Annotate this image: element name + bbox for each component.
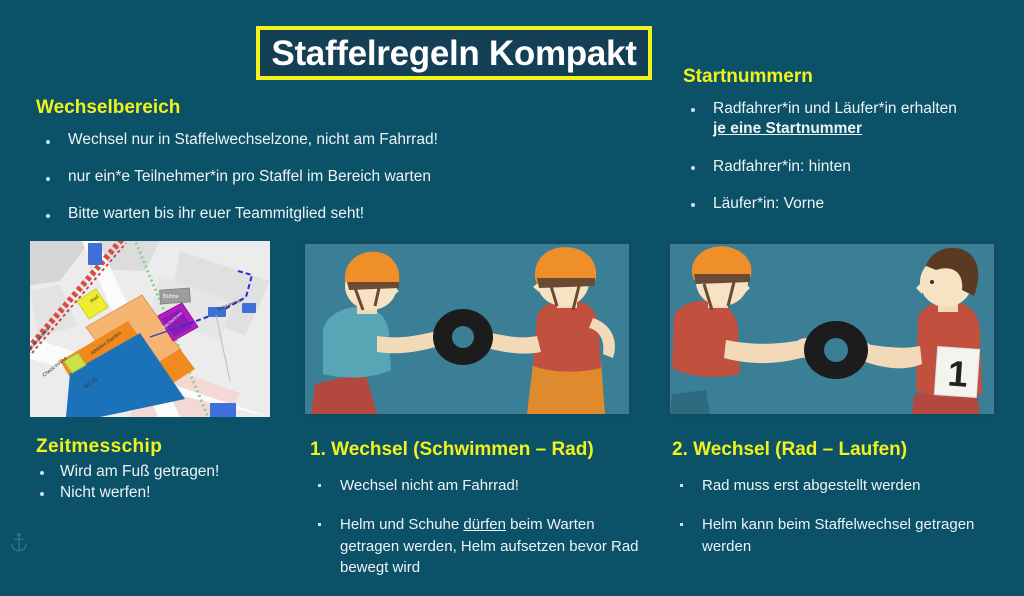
anchor-icon: [8, 530, 30, 554]
text-pre: Wechsel nicht am Fahrrad!: [340, 477, 519, 494]
slide-root: Staffelregeln Kompakt Wechselbereich Wec…: [0, 0, 1024, 584]
swim-to-bike-svg: [305, 244, 629, 414]
timing-chip: [804, 321, 868, 379]
text-emphasis: dürfen: [463, 516, 506, 533]
list-item: Bitte warten bis ihr euer Teammitglied s…: [38, 205, 508, 223]
list-startnummern: Radfahrer*in und Läufer*in erhalten je e…: [683, 99, 973, 232]
list-wechsel-2: Rad muss erst abgestellt werden Helm kan…: [672, 475, 1002, 574]
list-zeitmesschip: Wird am Fuß getragen! Nicht werfen!: [30, 463, 290, 505]
heading-wechsel-2: 2. Wechsel (Rad – Laufen): [672, 440, 907, 461]
slide-title-box: Staffelregeln Kompakt: [256, 26, 652, 80]
venue-map-svg: Rad Athleten Garden Check-In/Out W2 VD B…: [30, 241, 270, 417]
list-item: Wird am Fuß getragen!: [30, 463, 290, 481]
list-item: Radfahrer*in und Läufer*in erhalten je e…: [683, 99, 973, 140]
illustration-swim-to-bike: [302, 241, 632, 417]
race-bib: 1: [934, 347, 979, 398]
list-item: Rad muss erst abgestellt werden: [672, 475, 1002, 497]
heading-wechselbereich: Wechselbereich: [36, 98, 180, 119]
list-item: nur ein*e Teilnehmer*in pro Staffel im B…: [38, 168, 508, 186]
page-title: Staffelregeln Kompakt: [271, 36, 636, 71]
list-item: Helm kann beim Staffelwechsel getragen w…: [672, 514, 1002, 558]
heading-zeitmesschip: Zeitmesschip: [36, 437, 162, 458]
heading-wechsel-1: 1. Wechsel (Schwimmen – Rad): [310, 440, 594, 461]
list-wechsel-1: Wechsel nicht am Fahrrad! Helm und Schuh…: [310, 475, 650, 596]
bike-to-run-svg: 1: [670, 244, 994, 414]
text-emphasis: je eine Startnummer: [713, 120, 862, 137]
timing-chip: [433, 309, 493, 365]
list-item: Wechsel nur in Staffelwechselzone, nicht…: [38, 131, 508, 149]
venue-map-image: Rad Athleten Garden Check-In/Out W2 VD B…: [30, 241, 270, 417]
list-item: Nicht werfen!: [30, 484, 290, 502]
heading-startnummern: Startnummern: [683, 67, 813, 88]
list-item: Radfahrer*in: hinten: [683, 157, 973, 177]
bib-number-text: 1: [946, 352, 969, 394]
text-pre: Radfahrer*in und Läufer*in erhalten: [713, 100, 957, 117]
text-pre: Radfahrer*in: hinten: [713, 158, 851, 175]
map-label-buehne: Bühne: [163, 294, 179, 300]
list-item: Wechsel nicht am Fahrrad!: [310, 475, 650, 497]
text-pre: Läufer*in: Vorne: [713, 195, 824, 212]
illustration-bike-to-run: 1: [667, 241, 997, 417]
text-pre: Helm und Schuhe: [340, 516, 463, 533]
list-item: Helm und Schuhe dürfen beim Warten getra…: [310, 514, 650, 579]
list-wechselbereich: Wechsel nur in Staffelwechselzone, nicht…: [38, 131, 508, 242]
list-item: Läufer*in: Vorne: [683, 194, 973, 214]
